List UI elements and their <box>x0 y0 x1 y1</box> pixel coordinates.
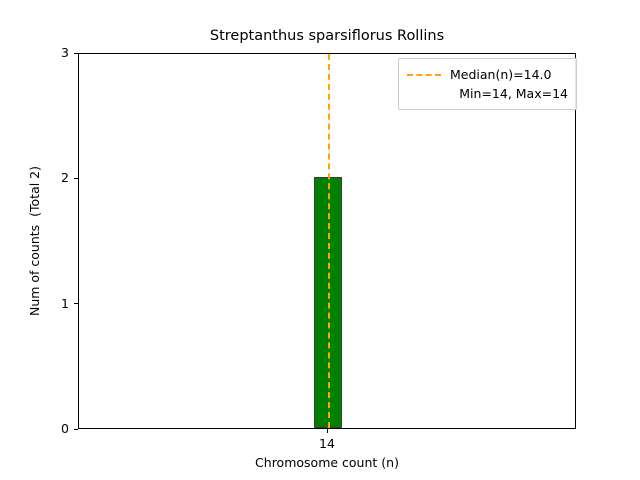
x-tick-mark <box>327 429 328 433</box>
plot-inner <box>79 54 575 428</box>
legend-entry-median: Median(n)=14.0 <box>407 65 568 84</box>
legend-label-median: Median(n)=14.0 <box>450 67 551 82</box>
y-tick-label: 0 <box>61 420 69 438</box>
y-tick-mark <box>74 429 78 430</box>
legend-label-minmax: Min=14, Max=14 <box>459 86 568 101</box>
y-tick-mark <box>74 303 78 304</box>
y-tick-mark <box>74 178 78 179</box>
y-axis-label: Num of counts (Total 2) <box>27 53 45 429</box>
y-tick-label: 1 <box>61 295 69 313</box>
y-tick-mark <box>74 53 78 54</box>
legend-entry-minmax: Min=14, Max=14 <box>407 84 568 103</box>
dashed-line-icon <box>407 69 441 81</box>
x-axis-label: Chromosome count (n) <box>78 455 576 470</box>
y-tick-label: 2 <box>61 169 69 187</box>
page-title: Streptanthus sparsiflorus Rollins <box>78 28 576 44</box>
y-tick-label: 3 <box>61 44 69 62</box>
median-line-marker <box>328 54 330 428</box>
chart-legend: Median(n)=14.0 Min=14, Max=14 <box>398 58 577 110</box>
chart-figure: Streptanthus sparsiflorus Rollins 0123 1… <box>0 0 640 480</box>
x-tick-label: 14 <box>287 436 367 451</box>
